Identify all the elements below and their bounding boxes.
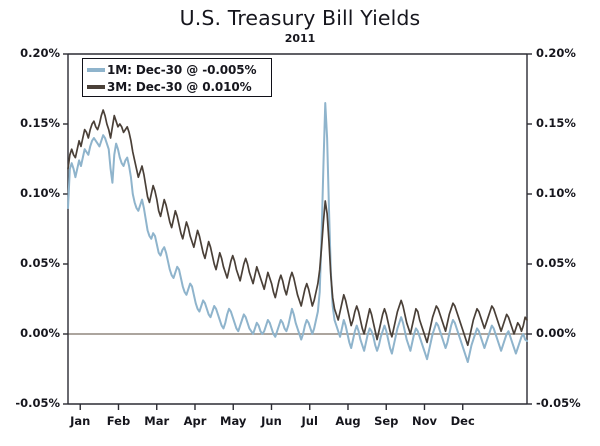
y-axis-tick-label-left: 0.10% [4, 186, 60, 200]
y-axis-tick-label-right: 0.15% [536, 116, 596, 130]
chart-legend: 1M: Dec-30 @ -0.005% 3M: Dec-30 @ 0.010% [82, 58, 272, 97]
x-axis-tick-label: Dec [440, 414, 486, 428]
legend-item-1m: 1M: Dec-30 @ -0.005% [87, 61, 256, 78]
y-axis-tick-label-right: 0.20% [536, 46, 596, 60]
y-axis-tick-label-right: 0.00% [536, 326, 596, 340]
chart-title: U.S. Treasury Bill Yields [0, 6, 600, 30]
y-axis-tick-label-right: 0.05% [536, 256, 596, 270]
legend-label-1m: 1M: Dec-30 @ -0.005% [107, 63, 256, 77]
y-axis-tick-label-left: 0.15% [4, 116, 60, 130]
y-axis-tick-label-right: 0.10% [536, 186, 596, 200]
series-line-3m [68, 110, 527, 345]
legend-item-3m: 3M: Dec-30 @ 0.010% [87, 78, 252, 95]
legend-swatch-3m [87, 85, 105, 89]
y-axis-tick-label-left: 0.00% [4, 326, 60, 340]
chart-subtitle: 2011 [0, 32, 600, 45]
legend-label-3m: 3M: Dec-30 @ 0.010% [107, 80, 252, 94]
y-axis-tick-label-left: 0.05% [4, 256, 60, 270]
y-axis-tick-label-left: -0.05% [4, 396, 60, 410]
chart-container: U.S. Treasury Bill Yields 2011 0.20%0.15… [0, 0, 600, 446]
legend-swatch-1m [87, 68, 105, 72]
y-axis-tick-label-right: -0.05% [536, 396, 596, 410]
series-line-1m [68, 103, 527, 362]
y-axis-tick-label-left: 0.20% [4, 46, 60, 60]
